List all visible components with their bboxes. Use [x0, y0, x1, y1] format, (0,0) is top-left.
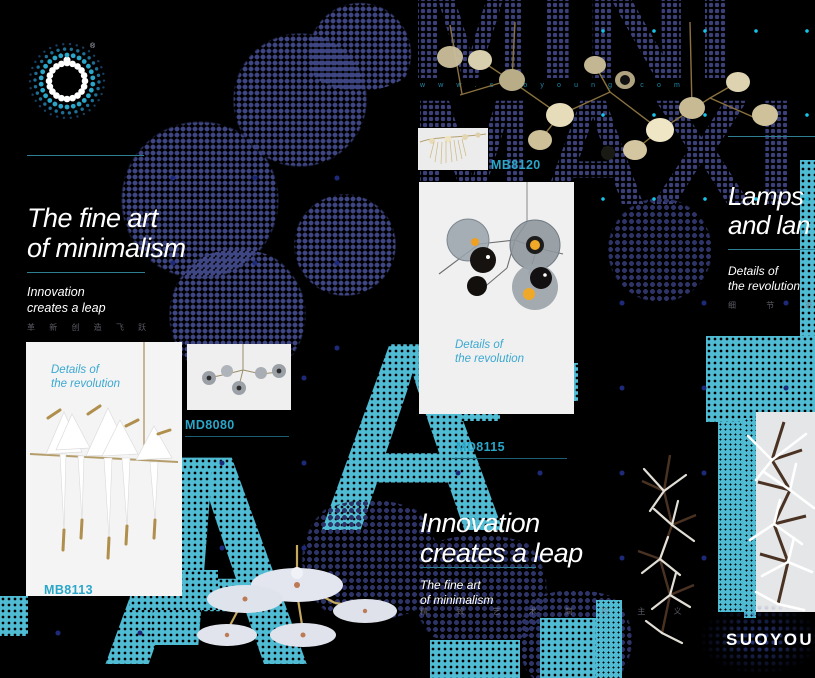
product-code-mb8120: MB8120 [491, 158, 541, 172]
product-card-md8115[interactable] [419, 182, 574, 414]
ring-logo-svg [26, 40, 108, 122]
bottom-subhead: The fine art of minimalism [420, 578, 493, 608]
product-code-mb8113: MB8113 [44, 583, 93, 597]
product-caption-mb8113: Details of the revolution [51, 363, 120, 391]
left-rule-top [27, 155, 144, 156]
rule-md8080 [185, 436, 289, 437]
left-subhead: Innovation creates a leap [27, 285, 106, 316]
left-subhead-line2: creates a leap [27, 301, 106, 317]
right-subhead-line2: the revolution [728, 279, 800, 294]
rule-md8115 [452, 458, 567, 459]
right-subhead: Details of the revolution [728, 264, 800, 294]
caption-line1-mb8113: Details of [51, 363, 120, 377]
thumb-art-mb8120 [418, 128, 488, 170]
product-card-md8080[interactable] [187, 344, 291, 410]
left-headline: The fine art of minimalism [27, 203, 257, 263]
left-headline-line1: The fine art [27, 203, 257, 233]
product-thumb-mb8120[interactable] [418, 128, 488, 170]
bottom-headline-line2: creates a leap [420, 538, 583, 568]
poster-canvas: MINI MAXI A A [0, 0, 815, 678]
left-chinese-text: 革 新 创 造 飞 跃 [27, 322, 152, 333]
product-code-md8080: MD8080 [185, 418, 235, 432]
right-headline-line1: Lamps [728, 182, 815, 211]
dot-grid-navy-mid [170, 175, 350, 355]
product-caption-md8115: Details of the revolution [455, 338, 524, 366]
cyan-patch-bottom-1 [430, 640, 520, 678]
caption-line1-md8115: Details of [455, 338, 524, 352]
caption-line2-mb8113: the revolution [51, 377, 120, 391]
halftone-blob-5 [300, 0, 420, 90]
left-headline-line2: of minimalism [27, 233, 257, 263]
left-subhead-line1: Innovation [27, 285, 106, 301]
right-chinese-text: 细 节 革 命 [728, 300, 815, 311]
bottom-headline: Innovation creates a leap [420, 508, 583, 568]
right-rule-bottom [728, 249, 815, 250]
product-image-disc-chandelier [185, 545, 415, 675]
right-subhead-line1: Details of [728, 264, 800, 279]
product-image-md8115 [419, 182, 574, 414]
product-image-md8080 [187, 344, 291, 410]
bottom-chinese-text: 精 致 艺 术 简 约 主 义 [420, 606, 695, 617]
suoyoung-ring-logo [26, 40, 98, 112]
brand-wordmark: SUOYOUNG [726, 630, 815, 650]
bottom-subhead-line1: The fine art [420, 578, 493, 593]
product-code-md8115: MD8115 [456, 440, 505, 454]
left-rule-bottom [27, 272, 145, 273]
registered-mark: ® [90, 43, 95, 50]
bottom-rule [420, 567, 536, 568]
product-image-stick-lamp-light [744, 412, 815, 612]
cyan-patch-left-bottom [0, 596, 28, 636]
bottom-headline-line1: Innovation [420, 508, 583, 538]
right-headline: Lamps and lan [728, 182, 815, 240]
right-headline-line2: and lan [728, 211, 815, 240]
caption-line2-md8115: the revolution [455, 352, 524, 366]
